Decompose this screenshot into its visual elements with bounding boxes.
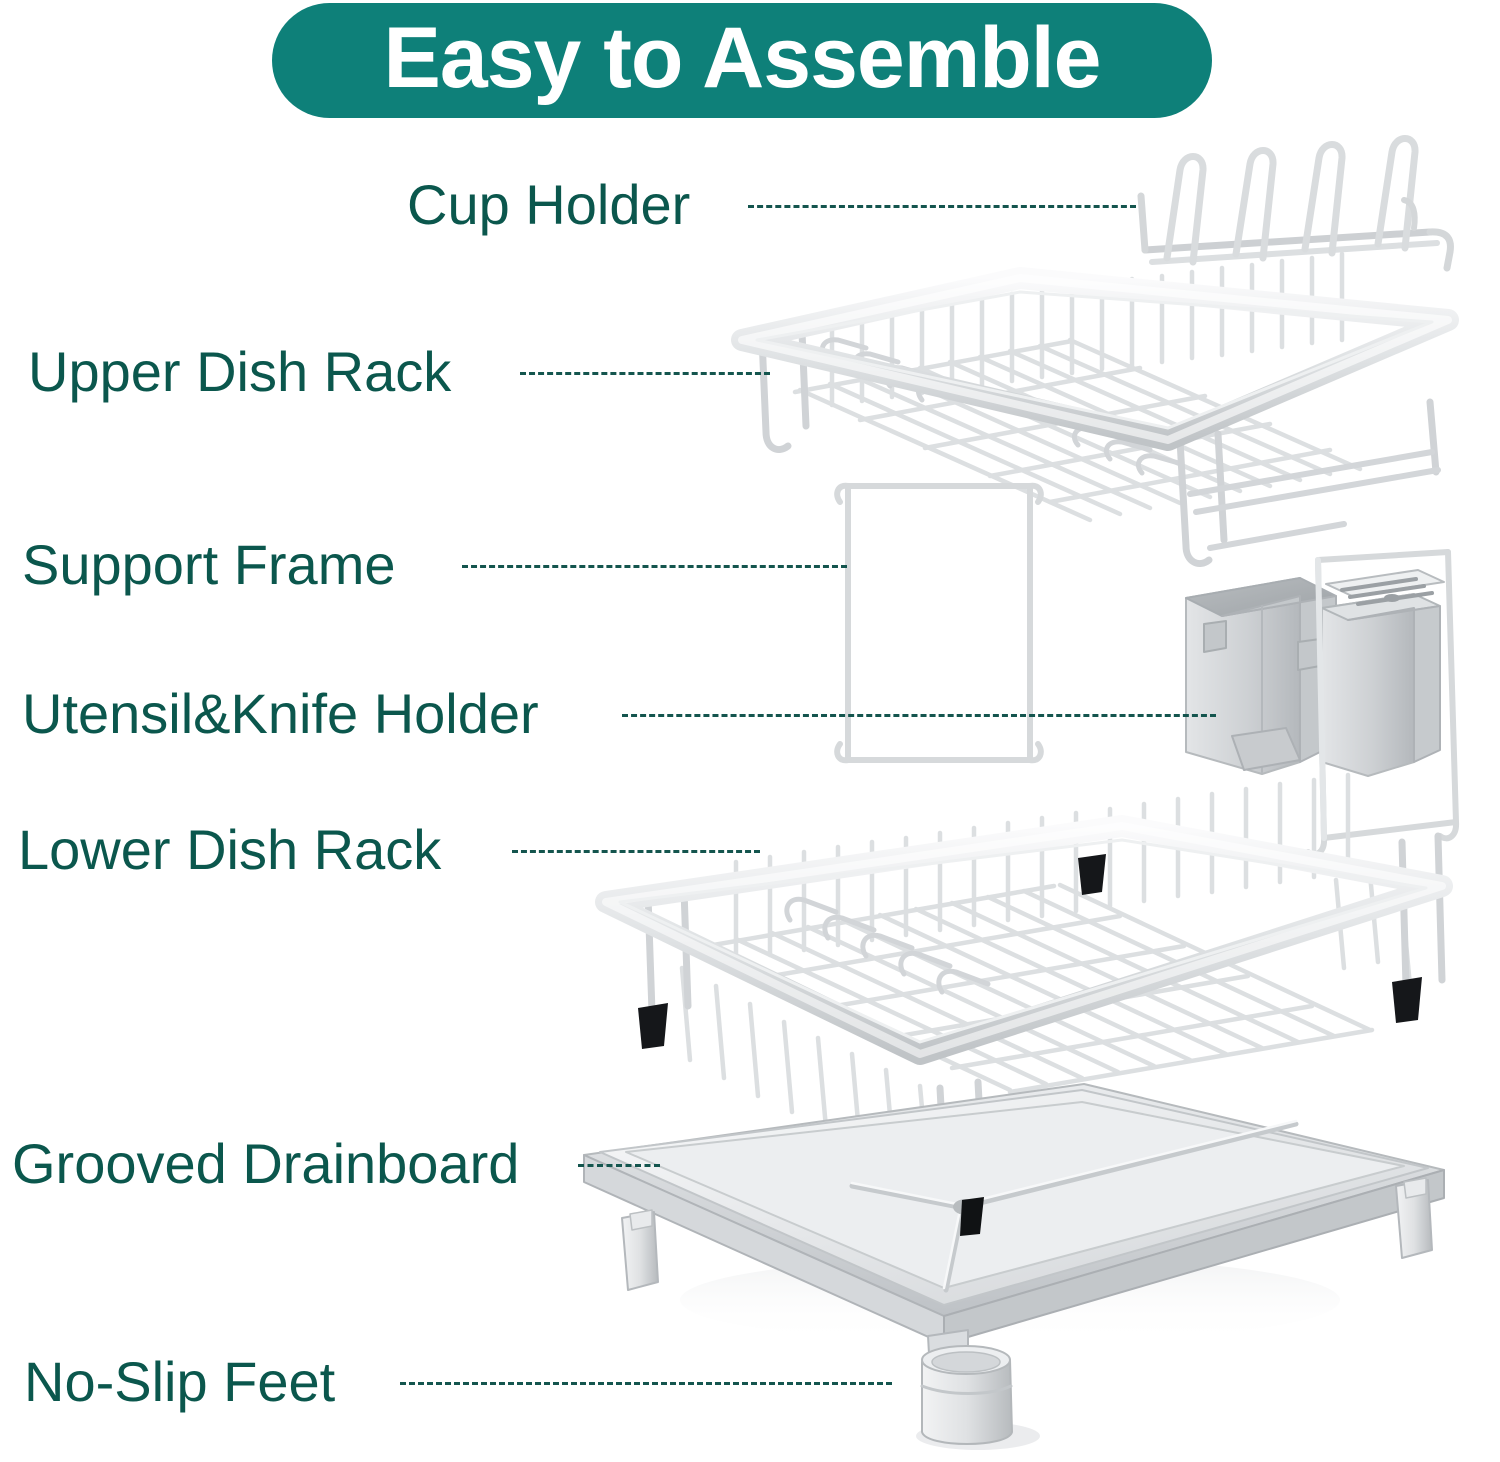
leader-line-no-slip-feet <box>400 1382 892 1385</box>
callout-label-utensil-knife-holder: Utensil&Knife Holder <box>22 686 539 742</box>
title-banner: Easy to Assemble <box>272 3 1212 118</box>
part-support-frame <box>837 486 1041 761</box>
callout-label-grooved-drainboard: Grooved Drainboard <box>12 1136 519 1192</box>
part-cup-holder <box>1141 139 1450 269</box>
part-grooved-drainboard <box>584 1084 1444 1372</box>
banner-title: Easy to Assemble <box>384 15 1101 107</box>
rubber-tip <box>1078 854 1106 895</box>
leader-line-cup-holder <box>748 205 1136 208</box>
callout-label-cup-holder: Cup Holder <box>407 177 690 233</box>
callout-label-lower-dish-rack: Lower Dish Rack <box>18 822 441 878</box>
callout-label-support-frame: Support Frame <box>22 537 396 593</box>
callout-label-no-slip-feet: No-Slip Feet <box>24 1354 335 1410</box>
part-no-slip-feet <box>916 1346 1040 1450</box>
leader-line-lower-dish-rack <box>512 850 760 853</box>
rubber-tip <box>1392 977 1422 1023</box>
infographic-canvas: Easy to Assemble Cup Holder Upper Dish R… <box>0 0 1500 1462</box>
leader-line-support-frame <box>462 565 847 568</box>
rubber-tip <box>638 1003 668 1049</box>
drain-spout <box>960 1197 984 1236</box>
leader-line-utensil-knife-holder <box>622 714 1216 717</box>
callout-label-upper-dish-rack: Upper Dish Rack <box>28 344 451 400</box>
leader-line-upper-dish-rack <box>520 372 770 375</box>
part-utensil-knife-holder <box>1186 552 1456 854</box>
leader-line-grooved-drainboard <box>578 1164 660 1167</box>
